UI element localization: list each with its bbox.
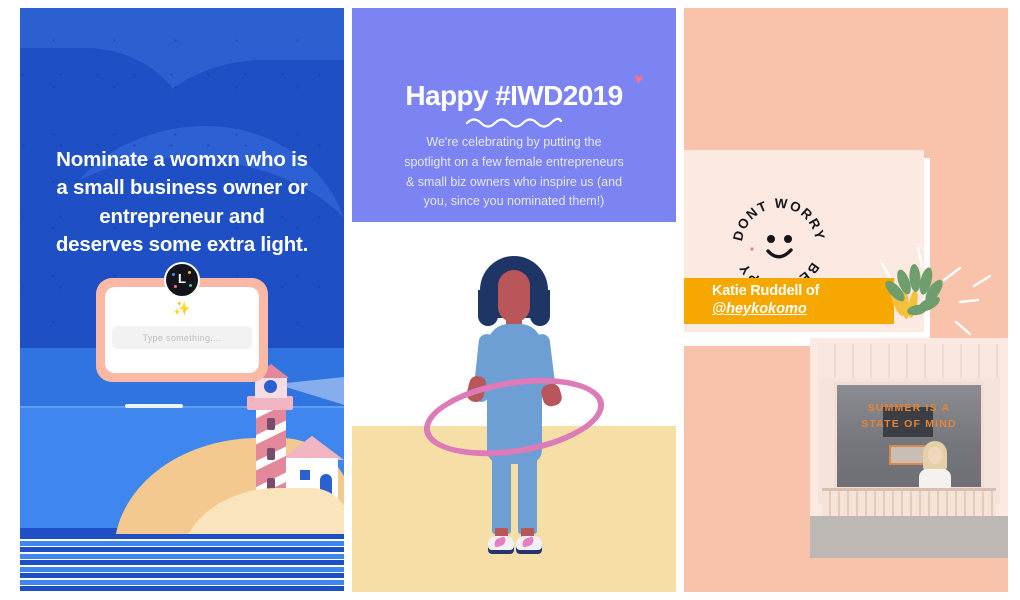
headline-line-4: deserves some extra light.: [34, 231, 330, 259]
cottage-window: [300, 470, 310, 480]
question-sticker-card[interactable]: ✨ Type something.... L: [96, 278, 268, 382]
heart-doodle-icon: ♥: [633, 70, 645, 88]
subject-face: [928, 447, 942, 464]
body-line-3: & small biz owners who inspire us (and: [376, 173, 652, 193]
brand-logo-icon: L: [164, 262, 200, 298]
body-line-4: you, since you nominated them!): [376, 192, 652, 212]
left-sneaker: [488, 536, 514, 554]
left-leg: [492, 456, 511, 534]
iwd-body-text: We're celebrating by putting the spotlig…: [376, 133, 652, 212]
story-slide-iwd2019[interactable]: Happy #IWD2019 ♥ We're celebrating by pu…: [352, 8, 676, 592]
leaf-plant-icon: [879, 258, 949, 324]
photo-shop-window: SUMMER IS A STATE OF MIND: [834, 382, 984, 490]
squiggle-underline-icon: [464, 115, 564, 134]
sparkles-icon: ✨: [173, 301, 190, 315]
creator-name: Katie Ruddell of: [712, 283, 894, 301]
lighthouse-window-mid: [267, 448, 275, 460]
type-something-input[interactable]: Type something....: [112, 326, 252, 349]
boat-shape: [125, 404, 183, 408]
headline-line-1: Nominate a womxn who is: [34, 146, 330, 174]
svg-text:DONT WORRY: DONT WORRY: [730, 196, 828, 242]
window-slogan: SUMMER IS A STATE OF MIND: [837, 401, 981, 433]
brand-logo-glyph: L: [178, 272, 186, 285]
photo-sidewalk: [810, 516, 1008, 558]
headline-line-3: entrepreneur and: [34, 203, 330, 231]
body-line-1: We're celebrating by putting the: [376, 133, 652, 153]
window-slogan-line-2: STATE OF MIND: [837, 417, 981, 433]
iwd-title: Happy #IWD2019: [405, 80, 622, 111]
creator-name-banner: Katie Ruddell of @heykokomo: [684, 278, 894, 324]
iwd-title-wrap: Happy #IWD2019 ♥: [352, 80, 676, 112]
cottage-roof: [280, 436, 344, 460]
story-slide-katie-ruddell[interactable]: DONT WORRY BE HAPPY: [684, 8, 1008, 592]
photo-brick-band: [818, 344, 1000, 378]
creator-handle[interactable]: @heykokomo: [712, 301, 894, 319]
right-sneaker: [516, 536, 542, 554]
story-slide-nominate[interactable]: Nominate a womxn who is a small business…: [20, 8, 344, 592]
face-shape: [498, 270, 530, 322]
body-line-2: spotlight on a few female entrepreneurs: [376, 153, 652, 173]
instagram-stories-board: Nominate a womxn who is a small business…: [0, 0, 1020, 600]
storefront-photo: SUMMER IS A STATE OF MIND: [810, 338, 1008, 558]
window-slogan-line-1: SUMMER IS A: [837, 401, 981, 417]
wave-stripes: [20, 534, 344, 592]
sticker-body: ✨ Type something....: [105, 287, 259, 373]
hair-left-strand: [478, 290, 498, 326]
lighthouse-window-top: [267, 418, 275, 430]
lighthouse-deck: [247, 396, 293, 410]
hair-right-strand: [530, 290, 550, 326]
nominate-headline: Nominate a womxn who is a small business…: [34, 146, 330, 259]
peach-background: [684, 8, 1008, 150]
right-leg: [518, 456, 537, 534]
headline-line-2: a small business owner or: [34, 174, 330, 202]
type-something-placeholder: Type something....: [143, 333, 222, 343]
